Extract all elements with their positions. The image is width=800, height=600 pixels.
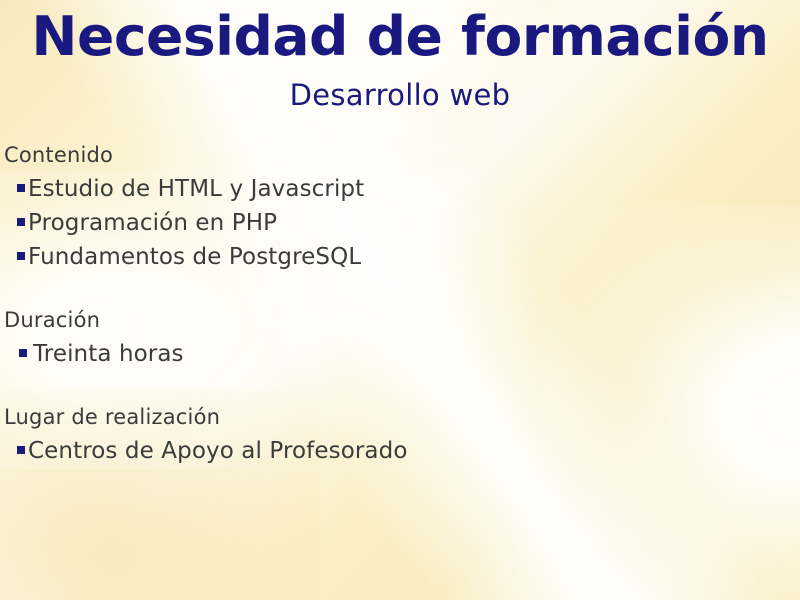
list-item-label: Treinta horas [33, 337, 184, 371]
list-item: Centros de Apoyo al Profesorado [4, 434, 784, 468]
section-heading: Lugar de realización [4, 401, 784, 434]
slide-subtitle: Desarrollo web [0, 78, 800, 112]
list-item-label: Fundamentos de PostgreSQL [28, 240, 361, 274]
section-bullet-list: Centros de Apoyo al Profesorado [4, 434, 784, 468]
section-heading: Contenido [4, 139, 784, 172]
list-item: Programación en PHP [4, 206, 784, 240]
list-item: Estudio de HTML y Javascript [4, 172, 784, 206]
square-bullet-icon [17, 218, 25, 226]
list-item-label: Programación en PHP [28, 206, 277, 240]
slide-content: Necesidad de formación Desarrollo web Co… [0, 0, 800, 600]
square-bullet-icon [17, 446, 25, 454]
list-item: Treinta horas [4, 337, 784, 371]
slide-body: Contenido Estudio de HTML y Javascript P… [4, 139, 784, 468]
list-item-label: Centros de Apoyo al Profesorado [28, 434, 408, 468]
section-contenido: Contenido Estudio de HTML y Javascript P… [4, 139, 784, 274]
section-bullet-list: Treinta horas [4, 337, 784, 371]
list-item-label: Estudio de HTML y Javascript [28, 172, 364, 206]
section-heading: Duración [4, 304, 784, 337]
section-duracion: Duración Treinta horas [4, 304, 784, 371]
slide-title: Necesidad de formación [0, 6, 800, 68]
presentation-slide: Necesidad de formación Desarrollo web Co… [0, 0, 800, 600]
square-bullet-icon [19, 349, 27, 357]
list-item: Fundamentos de PostgreSQL [4, 240, 784, 274]
section-lugar-de-realizacion: Lugar de realización Centros de Apoyo al… [4, 401, 784, 468]
square-bullet-icon [17, 184, 25, 192]
square-bullet-icon [17, 252, 25, 260]
section-bullet-list: Estudio de HTML y Javascript Programació… [4, 172, 784, 274]
